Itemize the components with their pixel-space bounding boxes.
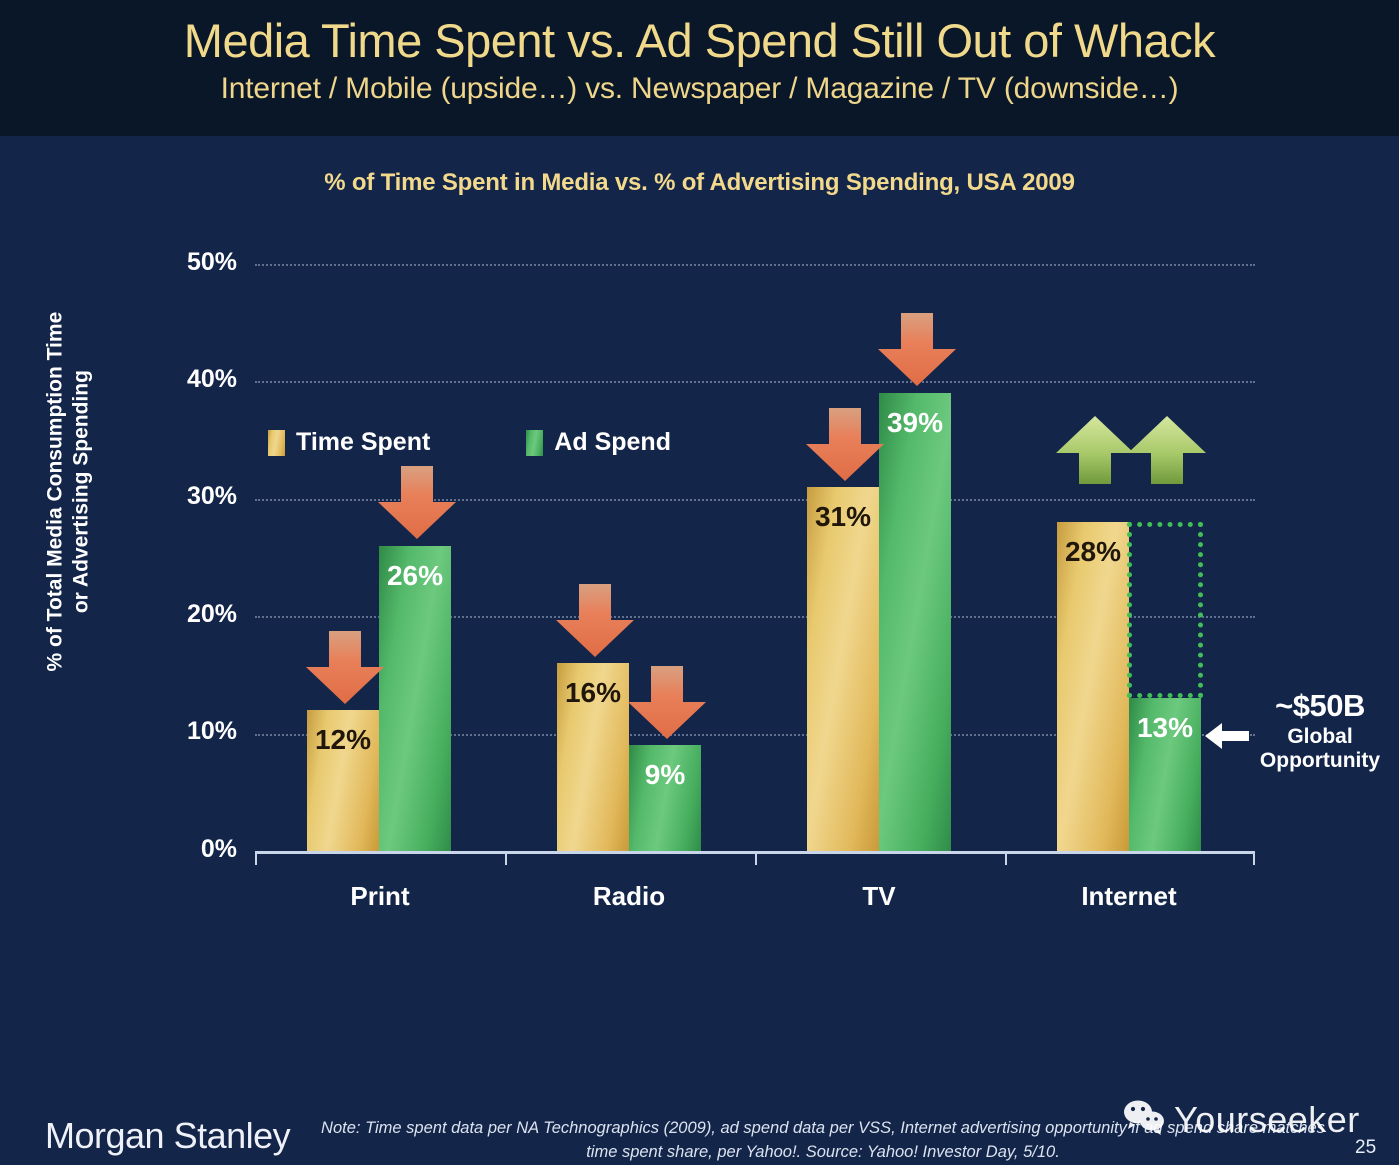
arrow-down-icon xyxy=(625,664,709,747)
gridline-50 xyxy=(255,264,1255,266)
wechat-icon xyxy=(1122,1098,1166,1141)
axis-tick-left xyxy=(255,851,257,865)
bar-value-label: 16% xyxy=(557,677,629,709)
gridline-40 xyxy=(255,381,1255,383)
category-label-internet: Internet xyxy=(1029,881,1229,912)
y-tick-label-50: 50% xyxy=(117,248,237,277)
arrow-down-icon xyxy=(803,406,887,489)
bar-internet-time-spent[interactable]: 28% xyxy=(1057,522,1129,851)
category-label-radio: Radio xyxy=(529,881,729,912)
arrow-down-icon xyxy=(375,464,459,547)
page-subtitle: Internet / Mobile (upside…) vs. Newspape… xyxy=(0,65,1399,105)
watermark-text: Yourseeker xyxy=(1174,1099,1360,1141)
bar-value-label: 31% xyxy=(807,501,879,533)
axis-tick-right xyxy=(1253,851,1255,865)
axis-tick-2 xyxy=(755,851,757,865)
y-tick-label-10: 10% xyxy=(117,717,237,746)
y-tick-label-40: 40% xyxy=(117,365,237,394)
bar-radio-time-spent[interactable]: 16% xyxy=(557,663,629,851)
bar-value-label: 12% xyxy=(307,724,379,756)
chart-legend: Time Spent Ad Spend xyxy=(268,428,671,457)
category-label-print: Print xyxy=(280,881,480,912)
axis-tick-3 xyxy=(1005,851,1007,865)
y-axis-title: % of Total Media Consumption Timeor Adve… xyxy=(42,282,93,702)
bar-value-label: 28% xyxy=(1057,536,1129,568)
arrow-up-icon xyxy=(1125,414,1209,491)
legend-label-ad-spend: Ad Spend xyxy=(554,428,671,457)
legend-swatch-ad-spend xyxy=(526,430,543,456)
chart-plot-area: 12% 26% Print 16% xyxy=(255,136,1255,896)
category-label-tv: TV xyxy=(779,881,979,912)
callout-line-1: Global xyxy=(1245,725,1395,750)
bar-tv-time-spent[interactable]: 31% xyxy=(807,487,879,851)
bar-value-label: 9% xyxy=(629,759,701,791)
bar-value-label: 39% xyxy=(879,407,951,439)
callout-amount: ~$50B xyxy=(1245,688,1395,725)
slide-body: % of Time Spent in Media vs. % of Advert… xyxy=(0,136,1399,1052)
legend-item-ad-spend[interactable]: Ad Spend xyxy=(526,428,671,457)
opportunity-callout: ~$50B Global Opportunity xyxy=(1245,688,1395,774)
bar-value-label: 26% xyxy=(379,560,451,592)
bar-tv-ad-spend[interactable]: 39% xyxy=(879,393,951,851)
watermark: Yourseeker xyxy=(1122,1098,1360,1141)
morgan-stanley-logo: Morgan Stanley xyxy=(45,1115,290,1157)
bar-value-label: 13% xyxy=(1129,712,1201,744)
legend-item-time-spent[interactable]: Time Spent xyxy=(268,428,430,457)
legend-label-time-spent: Time Spent xyxy=(296,428,430,457)
y-tick-label-0: 0% xyxy=(117,835,237,864)
opportunity-box xyxy=(1127,522,1203,698)
arrow-down-icon xyxy=(553,582,637,665)
bar-radio-ad-spend[interactable]: 9% xyxy=(629,745,701,851)
bar-internet-ad-spend[interactable]: 13% xyxy=(1129,698,1201,851)
legend-swatch-time-spent xyxy=(268,430,285,456)
y-tick-label-30: 30% xyxy=(117,482,237,511)
bar-print-time-spent[interactable]: 12% xyxy=(307,710,379,851)
arrow-down-icon xyxy=(303,629,387,712)
page-title: Media Time Spent vs. Ad Spend Still Out … xyxy=(0,0,1399,65)
bar-print-ad-spend[interactable]: 26% xyxy=(379,546,451,851)
arrow-down-icon xyxy=(875,311,959,394)
axis-tick-1 xyxy=(505,851,507,865)
callout-line-2: Opportunity xyxy=(1245,749,1395,774)
slide-header: Media Time Spent vs. Ad Spend Still Out … xyxy=(0,0,1399,136)
left-arrow-icon xyxy=(1203,719,1251,758)
y-tick-label-20: 20% xyxy=(117,600,237,629)
